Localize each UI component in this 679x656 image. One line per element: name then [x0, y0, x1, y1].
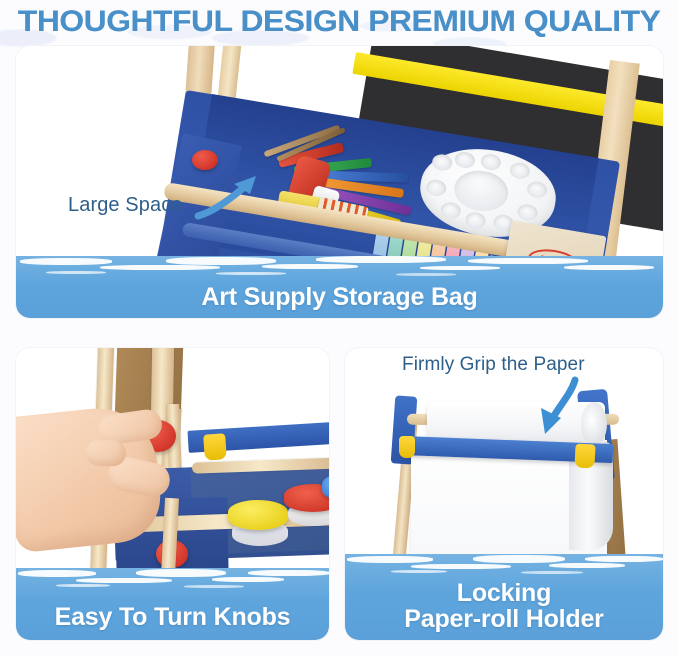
- caption-bar-storage-bag: Art Supply Storage Bag: [16, 256, 663, 318]
- caption-line-2: Paper-roll Holder: [404, 607, 603, 633]
- palette-well: [516, 203, 538, 222]
- middle-finger: [86, 439, 127, 466]
- brush-streaks: [16, 568, 329, 598]
- annotation-large-space: Large Space: [68, 194, 183, 217]
- infographic-page: THOUGHTFUL DESIGN PREMIUM QUALITY: [0, 0, 679, 656]
- panel-turn-knobs: Easy To Turn Knobs: [16, 348, 329, 640]
- caption-turn-knobs: Easy To Turn Knobs: [55, 605, 291, 635]
- panel-storage-bag: Art Kit Large Space: [16, 46, 663, 318]
- palette-well: [526, 180, 548, 199]
- palette-well: [480, 153, 502, 172]
- paint-cup-yellow: [228, 500, 288, 530]
- caption-storage-bag: Art Supply Storage Bag: [201, 285, 477, 313]
- brush-streaks: [16, 256, 663, 286]
- caption-bar-paper-roll: Locking Paper-roll Holder: [345, 554, 663, 640]
- palette-well: [464, 211, 486, 230]
- annotation-firmly-grip: Firmly Grip the Paper: [402, 354, 585, 376]
- panel-paper-roll-holder: Firmly Grip the Paper Locking Paper-roll…: [345, 348, 663, 640]
- yellow-lock-right: [574, 443, 595, 468]
- caption-bar-turn-knobs: Easy To Turn Knobs: [16, 568, 329, 640]
- caption-line-1: Locking: [404, 581, 603, 607]
- palette-well: [425, 178, 447, 197]
- palette-well: [431, 153, 453, 172]
- palette-well: [440, 201, 462, 220]
- yellow-lock-left: [399, 436, 415, 458]
- palette-well: [454, 151, 476, 170]
- page-title: THOUGHTFUL DESIGN PREMIUM QUALITY: [18, 5, 661, 39]
- palette-well: [509, 161, 531, 180]
- header: THOUGHTFUL DESIGN PREMIUM QUALITY: [0, 2, 679, 42]
- yellow-paper-clip: [203, 433, 227, 460]
- caption-paper-roll: Locking Paper-roll Holder: [404, 581, 603, 634]
- paper-roll-end: [581, 402, 607, 446]
- red-knob: [192, 150, 218, 170]
